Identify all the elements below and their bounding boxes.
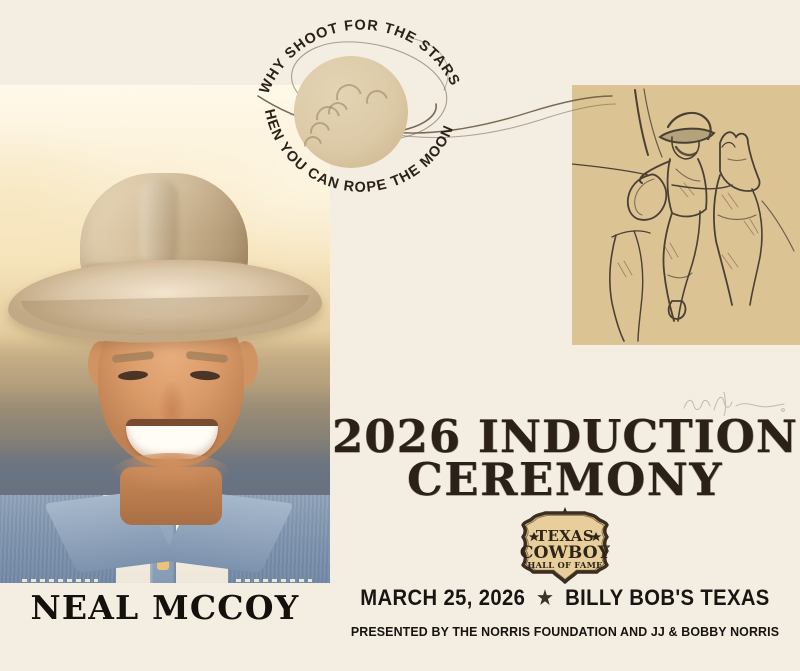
star-separator-icon: ★ [537, 587, 553, 610]
moon-badge: WHY SHOOT FOR THE STARS WHEN YOU CAN ROP… [248, 8, 474, 208]
poster-canvas: WHY SHOOT FOR THE STARS WHEN YOU CAN ROP… [0, 0, 800, 671]
page-title: 2026 INDUCTION CEREMONY [330, 415, 800, 501]
svg-text:WHEN YOU CAN ROPE THE MOON?: WHEN YOU CAN ROPE THE MOON? [248, 8, 457, 196]
pocket-stitching [22, 579, 98, 582]
logo-row: TEXAS COWBOY HALL OF FAME [330, 506, 800, 584]
tagline-bottom-text: WHEN YOU CAN ROPE THE MOON? [248, 8, 457, 196]
headline-line-2: CEREMONY [330, 458, 800, 501]
event-dateline: MARCH 25, 2026 ★ BILLY BOB'S TEXAS [349, 585, 781, 611]
event-title-block: 2026 INDUCTION CEREMONY TEXAS COWBOY HAL… [330, 415, 800, 639]
moon-tagline: WHY SHOOT FOR THE STARS WHEN YOU CAN ROP… [248, 8, 474, 208]
event-date: MARCH 25, 2026 [360, 585, 525, 611]
chin [112, 453, 230, 491]
presented-by-line: PRESENTED BY THE NORRIS FOUNDATION AND J… [344, 624, 786, 639]
tagline-top-text: WHY SHOOT FOR THE STARS [257, 17, 463, 96]
nose [158, 381, 186, 421]
artist-name: NEAL MCCOY [0, 588, 330, 627]
texas-cowboy-hall-of-fame-logo[interactable]: TEXAS COWBOY HALL OF FAME [513, 506, 617, 584]
svg-text:WHY SHOOT FOR THE STARS: WHY SHOOT FOR THE STARS [257, 17, 463, 96]
event-venue: BILLY BOB'S TEXAS [565, 585, 770, 611]
logo-line-3: HALL OF FAME [527, 560, 602, 570]
pocket-stitching [236, 579, 312, 582]
cowboy-hat-crease [140, 177, 178, 269]
